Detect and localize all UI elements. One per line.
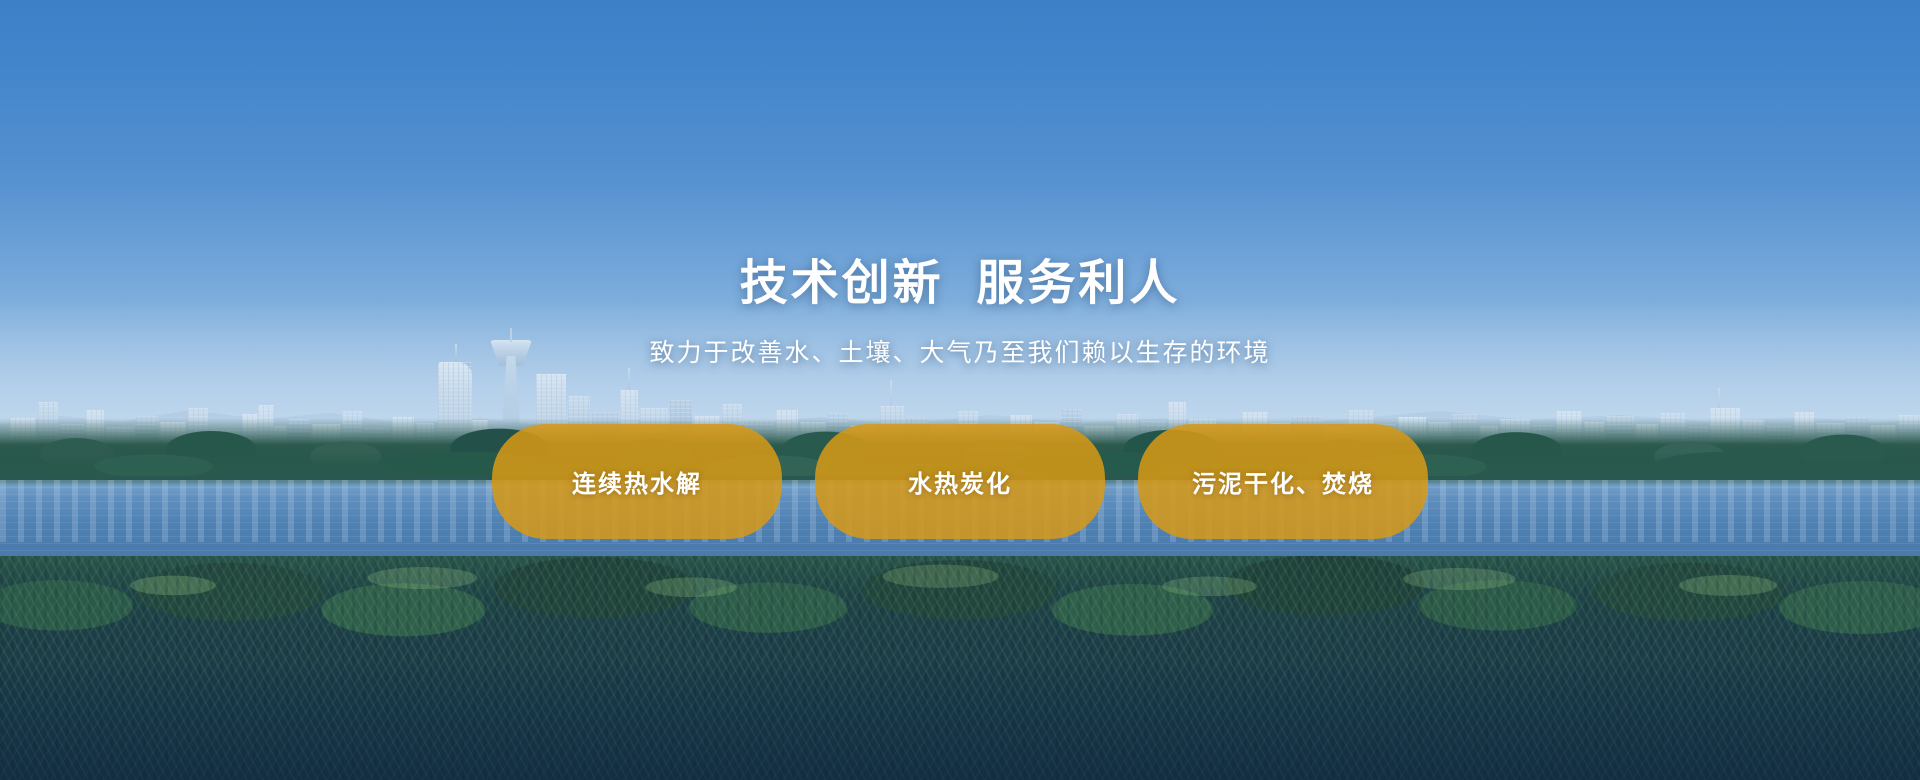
hero-subtitle: 致力于改善水、土壤、大气乃至我们赖以生存的环境	[649, 333, 1270, 369]
service-button-hydrothermal-carbonization[interactable]: 水热炭化	[815, 424, 1105, 539]
service-button-label: 连续热水解	[572, 464, 702, 499]
service-button-sludge-drying-incineration[interactable]: 污泥干化、焚烧	[1138, 424, 1428, 539]
hero-title: 技术创新 服务利人	[740, 258, 1181, 311]
hero-content: 技术创新 服务利人 致力于改善水、土壤、大气乃至我们赖以生存的环境 连续热水解 …	[0, 0, 1920, 780]
service-button-label: 污泥干化、焚烧	[1192, 464, 1374, 499]
service-button-continuous-thermal-hydrolysis[interactable]: 连续热水解	[492, 424, 782, 539]
hero-banner: 技术创新 服务利人 致力于改善水、土壤、大气乃至我们赖以生存的环境 连续热水解 …	[0, 0, 1920, 780]
service-button-group: 连续热水解 水热炭化 污泥干化、焚烧	[492, 424, 1428, 539]
service-button-label: 水热炭化	[908, 464, 1012, 499]
